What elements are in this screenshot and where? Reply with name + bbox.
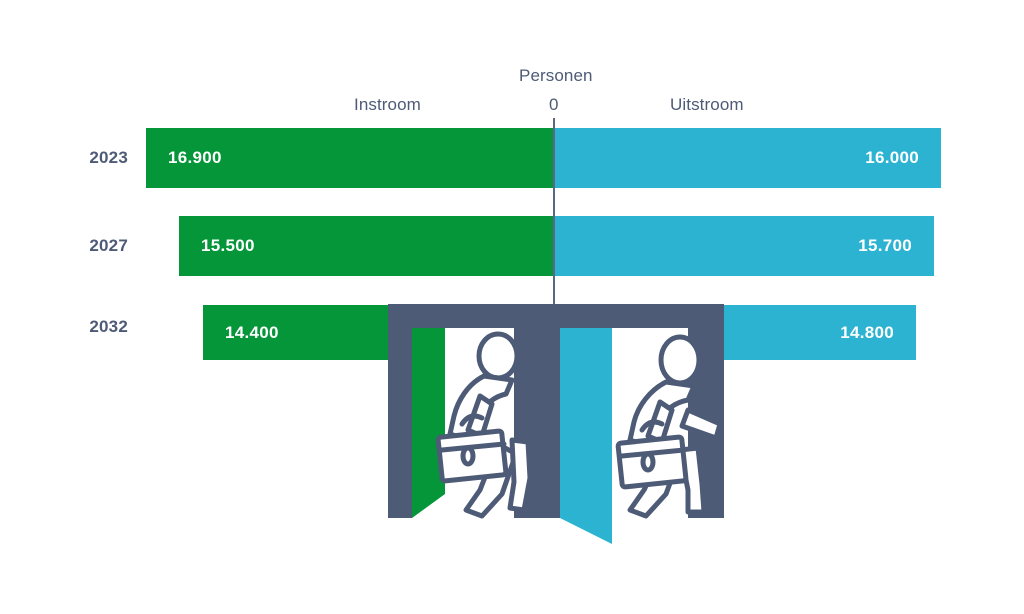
doorway-people-icon [388, 304, 724, 544]
bar-value-instroom-2023: 16.900 [168, 148, 222, 168]
bar-value-uitstroom-2027: 15.700 [858, 236, 912, 256]
category-label-2027: 2027 [58, 236, 128, 256]
bar-instroom-2023[interactable]: 16.900 [146, 128, 553, 188]
legend-label-instroom: Instroom [354, 95, 421, 115]
bar-value-uitstroom-2032: 14.800 [840, 323, 894, 343]
bar-uitstroom-2027[interactable]: 15.700 [555, 216, 934, 276]
chart-canvas: Instroom Personen 0 Uitstroom 2023 16.90… [0, 0, 1024, 614]
category-label-2023: 2023 [58, 148, 128, 168]
bar-uitstroom-2023[interactable]: 16.000 [555, 128, 941, 188]
legend-label-uitstroom: Uitstroom [670, 95, 744, 115]
axis-tick-zero: 0 [549, 95, 559, 115]
bar-value-instroom-2027: 15.500 [201, 236, 255, 256]
axis-title-personen: Personen [519, 66, 593, 86]
bar-instroom-2027[interactable]: 15.500 [179, 216, 553, 276]
bar-value-uitstroom-2023: 16.000 [865, 148, 919, 168]
category-label-2032: 2032 [58, 317, 128, 337]
bar-value-instroom-2032: 14.400 [225, 323, 279, 343]
